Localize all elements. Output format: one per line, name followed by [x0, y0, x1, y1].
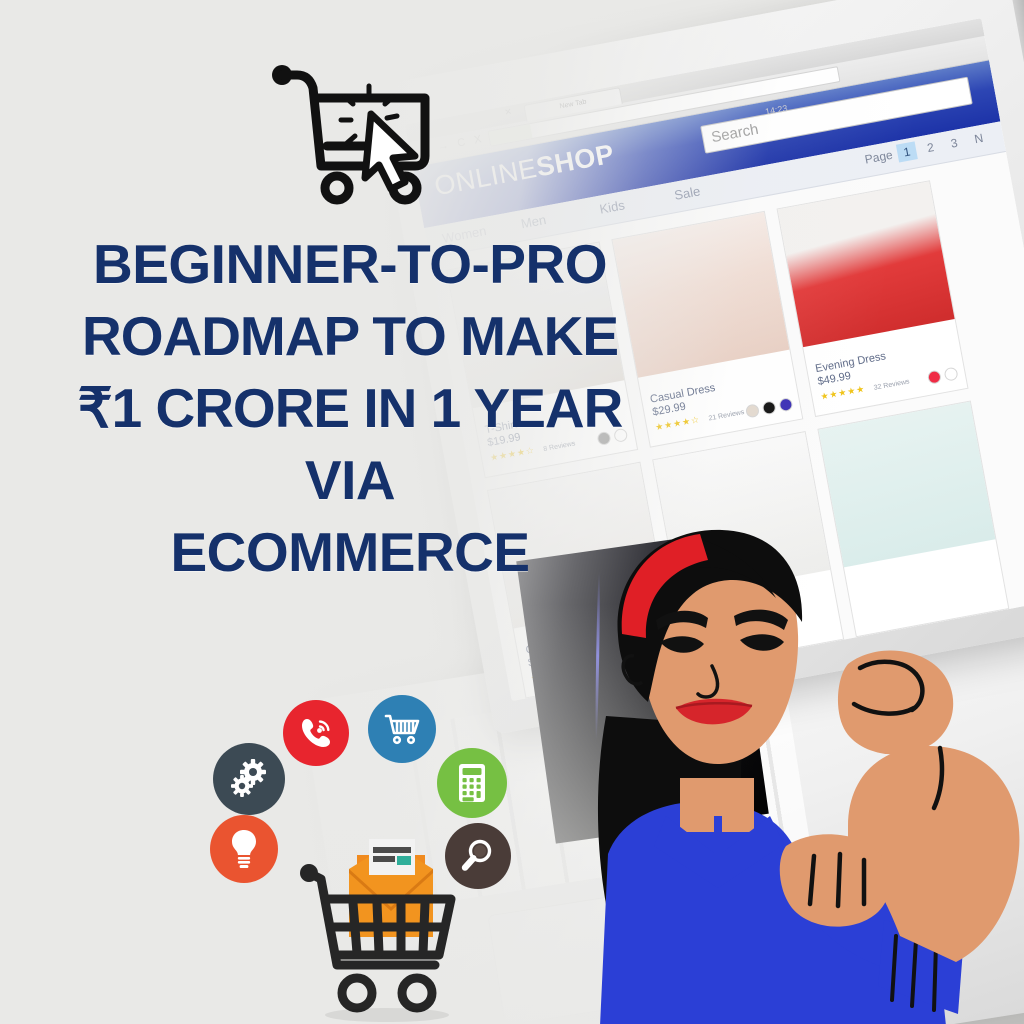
headline-line-1: BEGINNER-TO-PRO [30, 236, 670, 292]
gears-icon[interactable] [213, 743, 285, 815]
headline-line-2: ROADMAP TO MAKE [30, 308, 670, 364]
shopping-cart-icon[interactable] [368, 695, 436, 763]
cart-with-parcel-icon [265, 815, 495, 1024]
headline-line-4: VIA [30, 452, 670, 508]
headline-line-3: ₹1 CRORE IN 1 YEAR [30, 380, 670, 436]
flexing-woman-illustration [548, 516, 1024, 1024]
poster-canvas: New Tab ✕ ← → C X http://www. ONLINESHOP… [0, 0, 1024, 1024]
cart-cursor-click-icon [265, 58, 445, 208]
calculator-icon[interactable] [437, 748, 507, 818]
phone-icon[interactable] [283, 700, 349, 766]
ecommerce-icon-cluster [205, 695, 535, 1024]
